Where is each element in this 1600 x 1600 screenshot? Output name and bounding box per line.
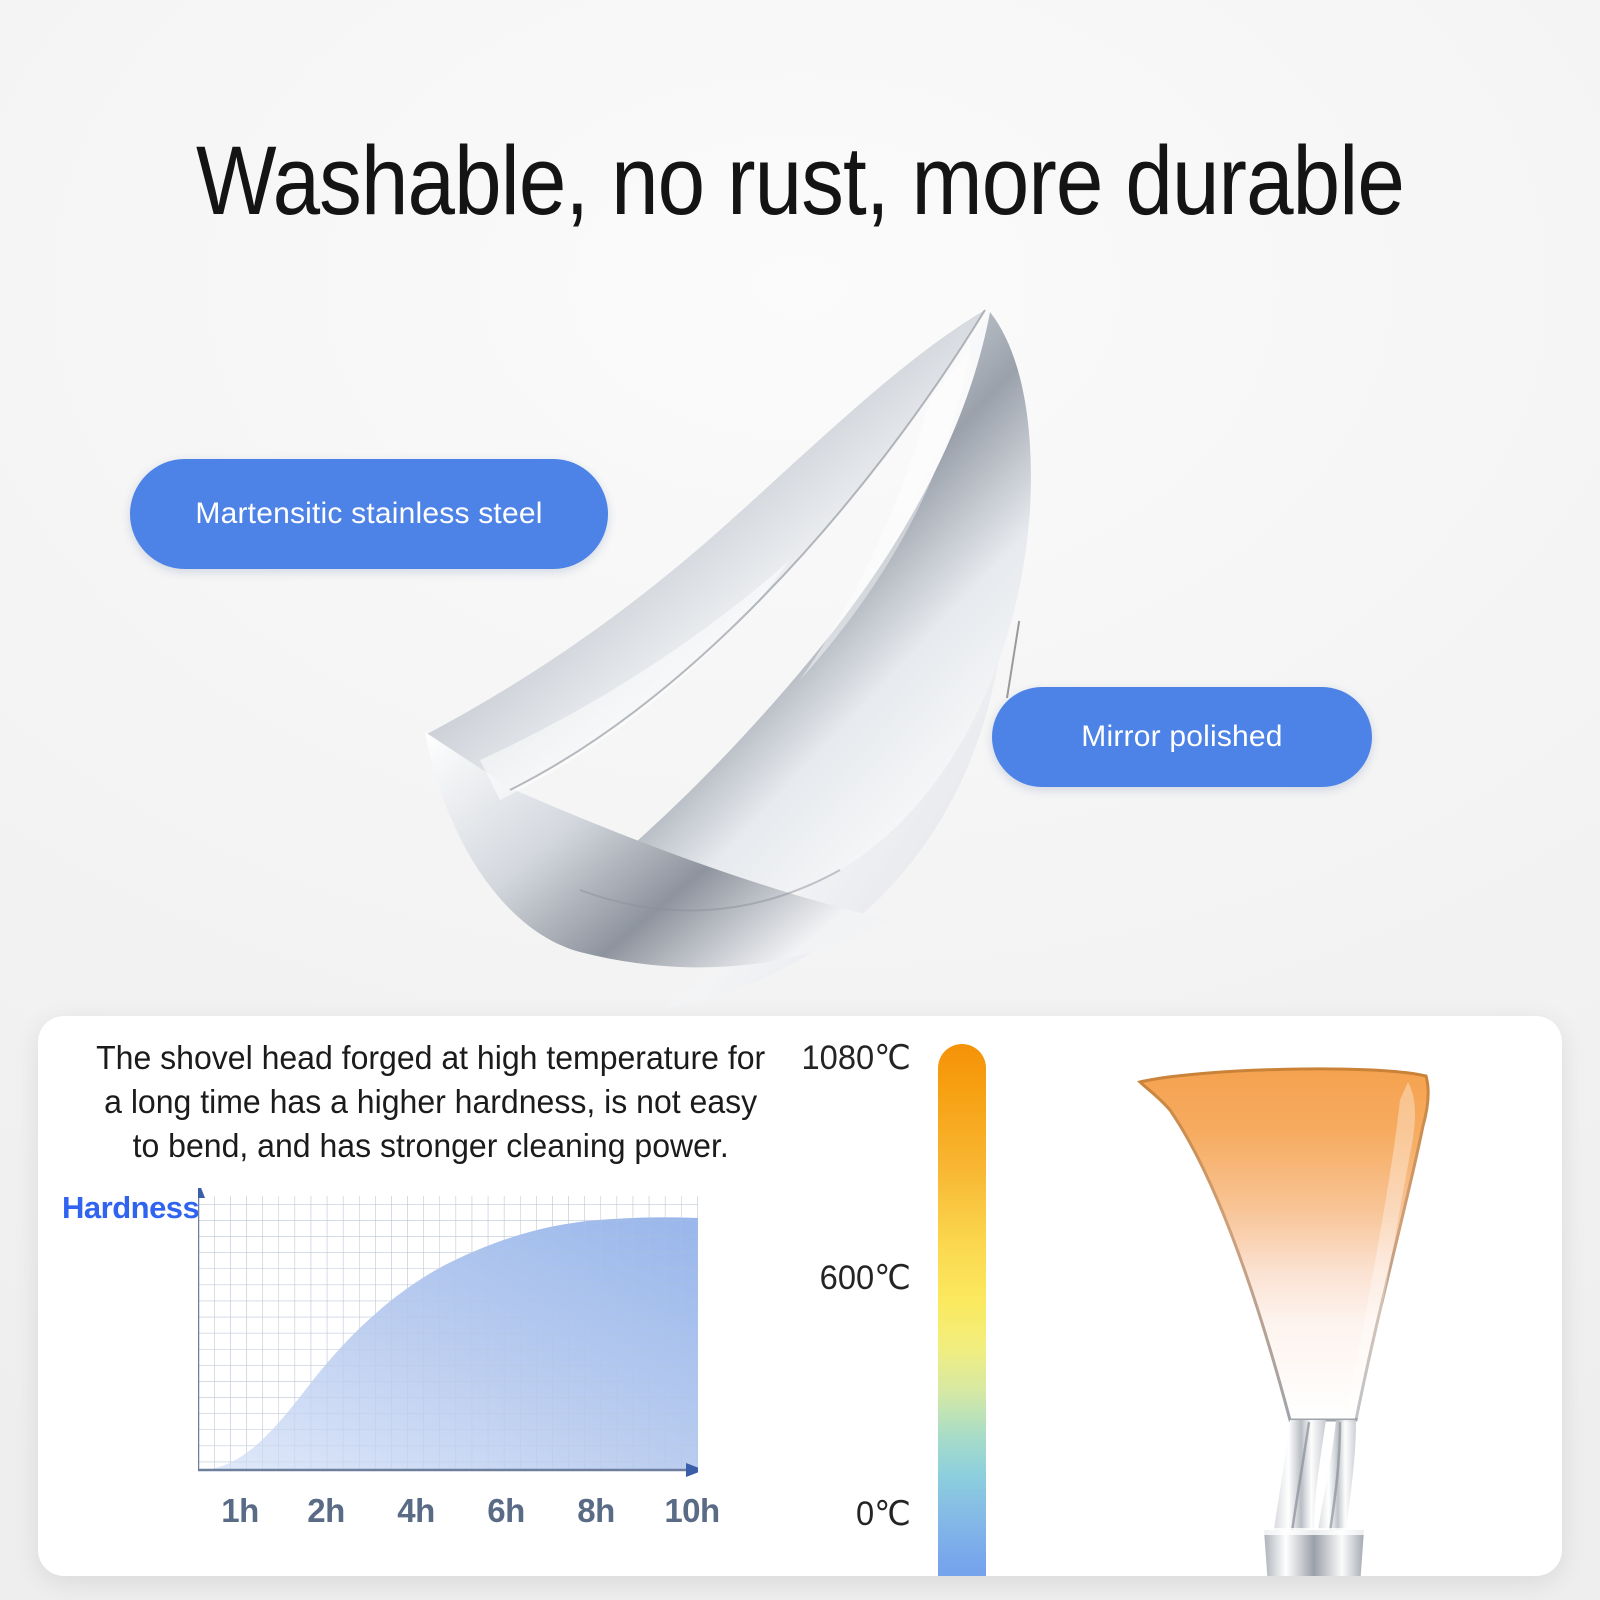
heated-shovel-head-photo [1078,1030,1558,1576]
callout-martensitic-stainless-steel[interactable]: Martensitic stainless steel [130,459,608,569]
page-title: Washable, no rust, more durable [96,125,1504,237]
gauge-label-0c: 0℃ [757,1494,911,1534]
callout-mirror-polished[interactable]: Mirror polished [992,687,1372,787]
gauge-label-1080c: 1080℃ [757,1038,911,1078]
info-card: The shovel head forged at high temperatu… [38,1016,1562,1576]
steel-blade-photo [330,280,1090,1020]
gauge-label-600c: 600℃ [757,1258,911,1298]
temperature-gradient-bar [938,1044,986,1576]
